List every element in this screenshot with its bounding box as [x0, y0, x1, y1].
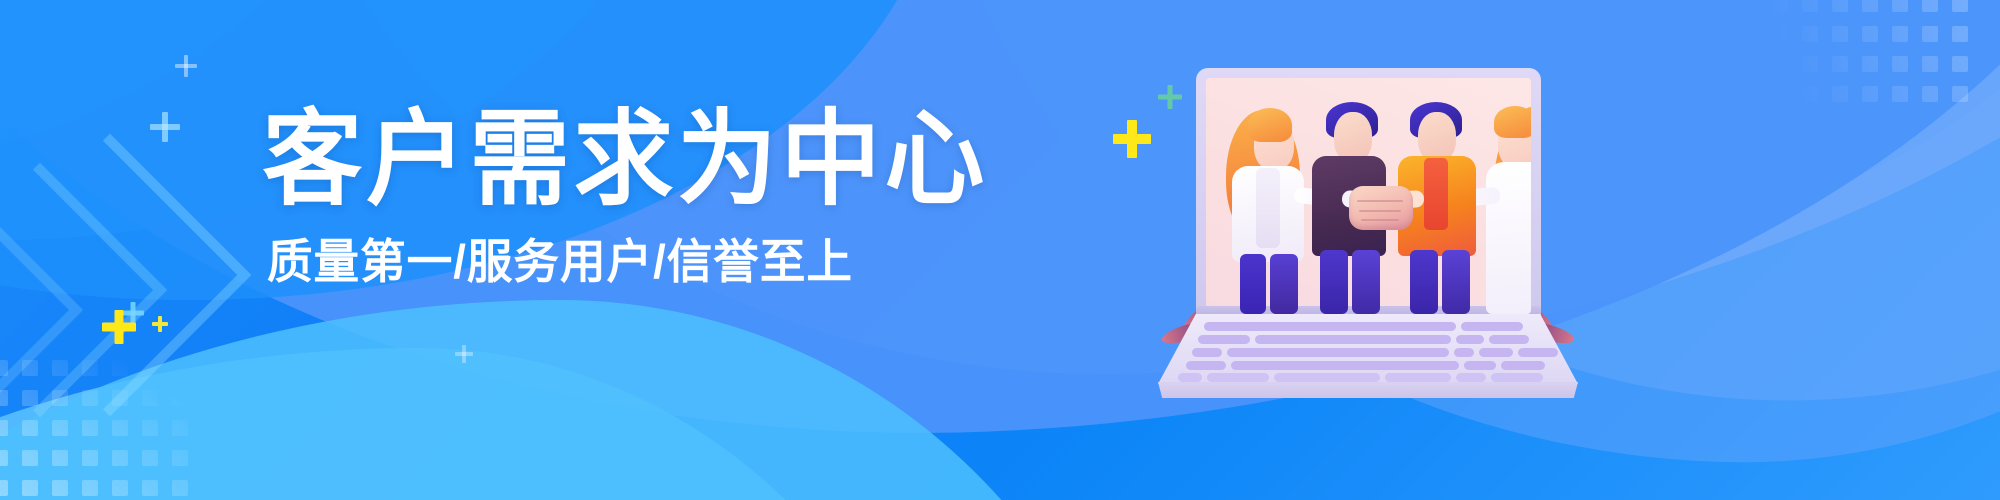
key — [1491, 373, 1543, 382]
key — [1186, 361, 1226, 370]
leg-right — [1352, 250, 1380, 314]
plus-icon-yellow-small-bottom-left — [152, 316, 168, 332]
key — [1207, 373, 1269, 382]
key — [1461, 322, 1523, 331]
chevron-arrow-icon-1 — [0, 134, 251, 417]
leg-right — [1270, 254, 1298, 314]
hair-front-shape — [1494, 106, 1531, 138]
key — [1227, 348, 1449, 357]
key — [1255, 335, 1451, 344]
keyboard-deck — [1158, 314, 1578, 384]
person-woman-orange-hair-cardigan — [1218, 104, 1314, 314]
plus-icon-yellow-large-bottom-left — [102, 310, 136, 344]
head-shape — [1334, 112, 1372, 162]
key — [1479, 348, 1513, 357]
torso-shirt — [1486, 162, 1531, 314]
laptop-screen — [1206, 78, 1531, 314]
background-wave-bottom — [0, 300, 1160, 500]
leg-left — [1240, 254, 1266, 314]
plus-icon-white-small-top — [175, 55, 197, 77]
banner-subline: 质量第一/服务用户/信誉至上 — [259, 234, 860, 289]
key — [1489, 335, 1529, 344]
key — [1385, 373, 1451, 382]
hair-front-shape — [1248, 108, 1292, 142]
laptop-illustration — [1158, 68, 1578, 398]
keyboard-front-edge — [1158, 382, 1578, 398]
leg-right — [1442, 250, 1470, 314]
key — [1204, 322, 1456, 331]
head-shape — [1418, 112, 1456, 162]
key — [1454, 348, 1474, 357]
promo-banner: 客户需求为中心 质量第一/服务用户/信誉至上 — [0, 0, 2000, 500]
key — [1518, 348, 1558, 357]
chevron-arrow-icon-3 — [0, 197, 83, 423]
laptop-keyboard — [1158, 314, 1578, 398]
background-wave-bottom-outer — [0, 348, 970, 500]
hand-line-3 — [1361, 219, 1399, 221]
dot-grid-bottom-left — [0, 360, 202, 500]
key — [1192, 348, 1222, 357]
torso-inner — [1256, 168, 1280, 248]
plus-icon-cyan-bottom-left — [122, 302, 144, 324]
hand-line-1 — [1357, 200, 1403, 202]
key — [1198, 335, 1250, 344]
laptop-screen-bezel — [1196, 68, 1541, 320]
key — [1456, 335, 1484, 344]
plus-icon-yellow-large-laptop — [1113, 120, 1151, 158]
hand-line-2 — [1359, 210, 1401, 212]
stacked-hands-icon — [1349, 186, 1413, 230]
plus-icon-white-medium — [150, 112, 180, 142]
key-spacebar — [1274, 373, 1380, 382]
key — [1231, 361, 1459, 370]
dot-grid-top-right — [1742, 0, 1982, 116]
leg-left — [1320, 250, 1348, 314]
key — [1501, 361, 1545, 370]
chevron-arrow-icon-2 — [0, 163, 167, 418]
leg-left — [1410, 250, 1438, 314]
key — [1456, 373, 1486, 382]
key — [1178, 373, 1202, 382]
banner-headline: 客户需求为中心 — [262, 104, 857, 216]
banner-copy-block: 客户需求为中心 质量第一/服务用户/信誉至上 — [250, 104, 870, 290]
plus-icon-white-small-center — [455, 345, 473, 363]
key — [1464, 361, 1496, 370]
torso-inner-shirt — [1424, 158, 1448, 230]
